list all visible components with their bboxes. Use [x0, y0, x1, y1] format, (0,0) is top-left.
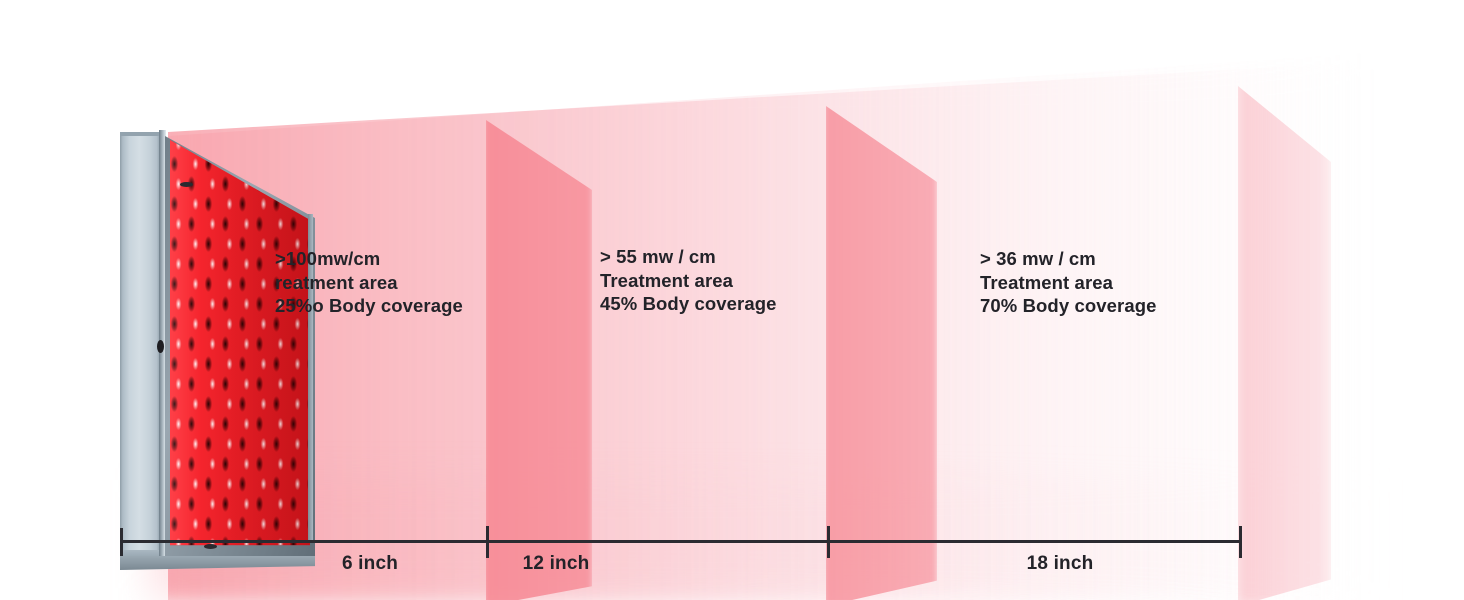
callout-12-inch-area: Treatment area [600, 269, 777, 293]
callout-6-inch-coverage: 25%o Body coverage [275, 294, 463, 318]
device-side-panel [120, 132, 160, 562]
axis-label-12-inch: 12 inch [486, 553, 626, 575]
axis-label-18-inch: 18 inch [940, 553, 1180, 575]
axis-tick-12-inch [827, 526, 830, 558]
treatment-plane-18-inch [1236, 76, 1331, 600]
callout-18-inch-irradiance: > 36 mw / cm [980, 247, 1157, 271]
red-light-therapy-panel [118, 126, 270, 570]
callout-18-inch-coverage: 70% Body coverage [980, 294, 1157, 318]
callout-18-inch-area: Treatment area [980, 271, 1157, 295]
axis-tick-18-inch [1239, 526, 1242, 558]
callout-12-inch-irradiance: > 55 mw / cm [600, 245, 777, 269]
device-top-notch-icon [180, 182, 193, 187]
light-beam-outer-glow [150, 52, 1380, 600]
device-led-array-shading [170, 134, 310, 560]
callout-6-inch-area: reatment area [275, 271, 463, 295]
axis-tick-origin [120, 528, 123, 556]
callout-12-inch: > 55 mw / cm Treatment area 45% Body cov… [600, 245, 777, 316]
device-side-knob-icon [157, 340, 164, 353]
light-beam-cone [150, 62, 1360, 600]
treatment-plane-6-inch [484, 112, 592, 600]
callout-18-inch: > 36 mw / cm Treatment area 70% Body cov… [980, 247, 1157, 318]
callout-12-inch-coverage: 45% Body coverage [600, 292, 777, 316]
infographic-canvas: 6 inch 12 inch 18 inch >100mw/cm reatmen… [0, 0, 1464, 600]
device-bottom-notch-icon [204, 544, 217, 549]
device-side-top-edge [120, 132, 160, 136]
distance-axis-line [120, 540, 1241, 543]
callout-6-inch: >100mw/cm reatment area 25%o Body covera… [275, 247, 463, 318]
callout-6-inch-irradiance: >100mw/cm [275, 247, 463, 271]
axis-label-6-inch: 6 inch [250, 553, 490, 575]
treatment-plane-12-inch [824, 98, 937, 600]
